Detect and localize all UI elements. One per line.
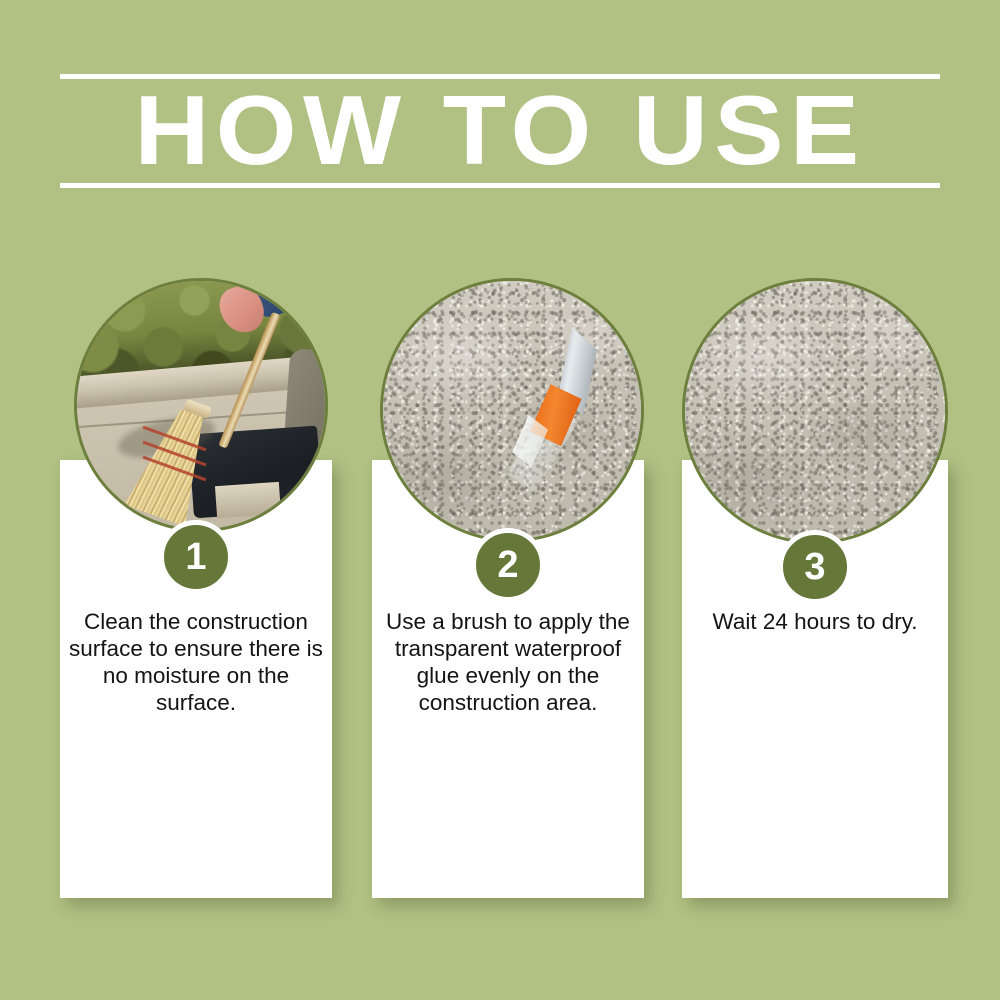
step-card-2: 2 Use a brush to apply the transparent w… <box>372 278 644 938</box>
stone-block-shape <box>215 482 282 519</box>
step-3-photo <box>682 278 948 544</box>
steps-row: 1 Clean the construction surface to ensu… <box>0 278 1000 938</box>
brush-applying-glue-on-concrete-photo <box>383 281 641 539</box>
header-bottom-divider <box>60 183 940 188</box>
step-2-caption: Use a brush to apply the transparent wat… <box>380 608 636 716</box>
how-to-use-poster: HOW TO USE <box>0 0 1000 1000</box>
concrete-mottling <box>383 281 641 539</box>
step-2-photo <box>380 278 644 542</box>
step-2-number-badge: 2 <box>471 528 545 602</box>
broom-sweeping-pavement-photo <box>77 281 325 529</box>
dry-concrete-surface-photo <box>685 281 945 541</box>
page-title: HOW TO USE <box>34 78 967 182</box>
poster-header: HOW TO USE <box>60 70 940 190</box>
step-3-number-badge: 3 <box>778 530 852 604</box>
step-card-3: 3 Wait 24 hours to dry. <box>682 278 948 938</box>
concrete-mottling <box>685 281 945 541</box>
step-1-caption: Clean the construction surface to ensure… <box>68 608 324 716</box>
step-card-1: 1 Clean the construction surface to ensu… <box>60 278 332 938</box>
step-1-photo <box>74 278 328 532</box>
step-1-number-badge: 1 <box>159 520 233 594</box>
step-3-caption: Wait 24 hours to dry. <box>690 608 940 635</box>
